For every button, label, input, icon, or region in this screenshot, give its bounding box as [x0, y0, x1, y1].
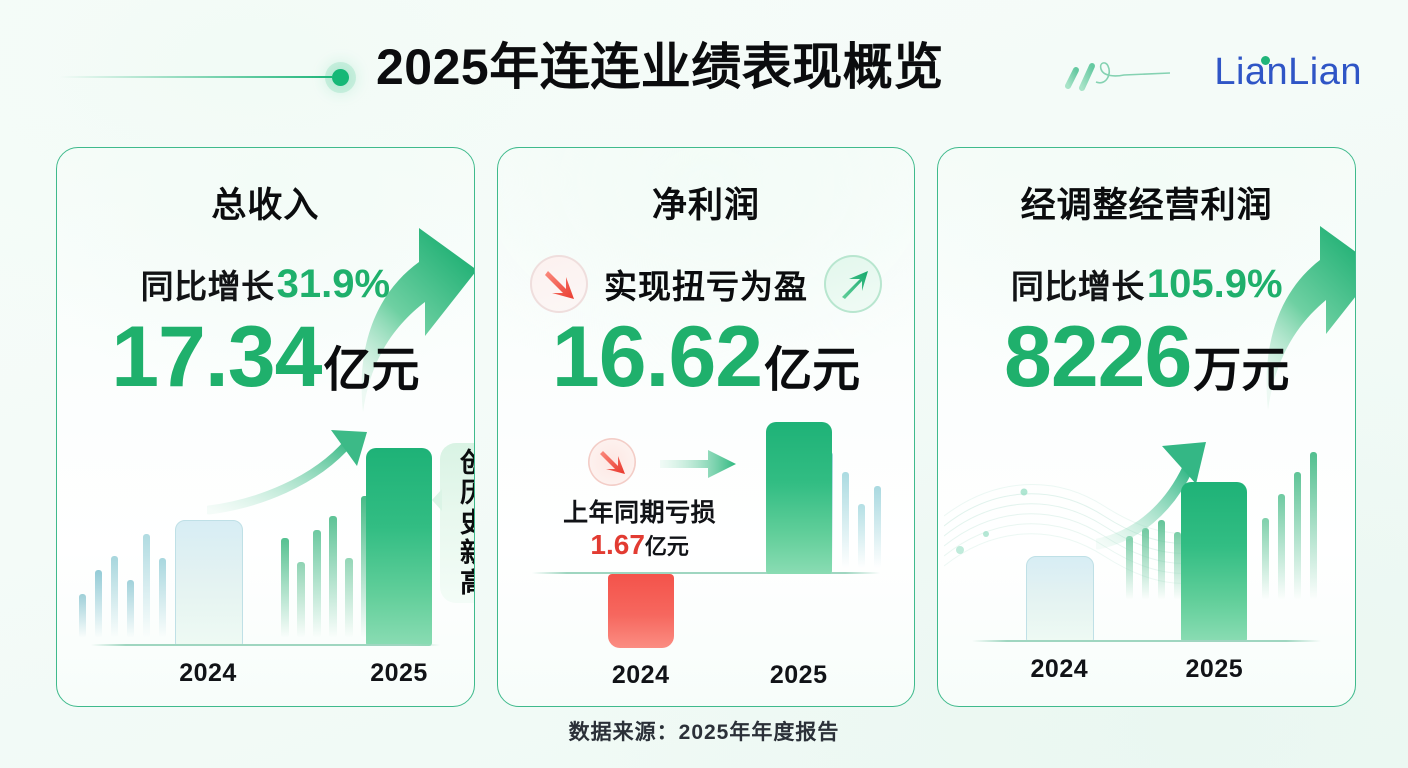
card-title: 经调整经营利润: [938, 184, 1355, 228]
bar-chart-total-revenue: 创历史新高 2024 2025: [57, 416, 474, 706]
loss-arrow-circle-icon: [588, 438, 636, 486]
card-title: 总收入: [57, 184, 474, 228]
growth-value: 31.9%: [277, 262, 390, 307]
x-tick-2024: 2024: [591, 661, 691, 690]
metric-card-adjusted-operating-profit[interactable]: 经调整经营利润 同比增长 105.9% 8226 万元: [937, 147, 1356, 707]
decor-mini-bar: [345, 558, 353, 638]
x-tick-2025: 2025: [349, 659, 449, 688]
decor-mini-bar: [1262, 518, 1269, 600]
decor-mini-bar: [297, 562, 305, 638]
value-number: 17.34: [111, 314, 321, 400]
squiggle-flourish-icon: [1062, 52, 1182, 100]
value-row: 8226 万元: [938, 314, 1355, 406]
cards-row: 总收入 同比增长 31.9% 17.34 亿元: [56, 147, 1356, 707]
header: 2025年连连业绩表现概览 LianLian: [0, 0, 1408, 140]
loss-note-label: 上年同期亏损: [540, 498, 740, 528]
x-tick-2025: 2025: [749, 661, 849, 690]
decor-mini-bar: [1310, 452, 1317, 600]
badge-pointer-icon: [432, 489, 442, 511]
value-number: 8226: [1004, 314, 1191, 400]
bar-2025: [766, 422, 832, 574]
brand-logo-text: LianLian: [1214, 51, 1362, 93]
loss-note-value-row: 1.67亿元: [540, 528, 740, 564]
bar-2024: [175, 520, 243, 646]
bar-chart-net-profit: 上年同期亏损 1.67亿元 2024 2025: [498, 416, 915, 706]
card-title: 净利润: [498, 184, 915, 228]
decor-mini-bar: [1294, 472, 1301, 600]
decor-mini-bar: [858, 504, 865, 568]
bar-2025: [366, 448, 432, 646]
decor-mini-bar: [159, 558, 166, 638]
x-axis-line: [91, 644, 440, 646]
growth-label: 同比增长: [141, 260, 275, 308]
bar-2024: [1026, 556, 1094, 642]
green-up-arrow-circle-icon: [824, 255, 882, 313]
value-unit: 亿元: [323, 345, 419, 397]
red-down-arrow-circle-icon: [530, 255, 588, 313]
x-tick-2025: 2025: [1164, 655, 1264, 684]
x-tick-2024: 2024: [158, 659, 258, 688]
loss-note-value: 1.67: [590, 529, 645, 560]
decor-mini-bar: [313, 530, 321, 638]
decor-mini-bar: [281, 538, 289, 638]
value-row: 17.34 亿元: [57, 314, 474, 406]
bar-2025: [1181, 482, 1247, 642]
brand-logo: LianLian: [1214, 50, 1362, 94]
decor-mini-bar: [143, 534, 150, 638]
x-axis-line: [972, 640, 1321, 642]
decor-mini-bar: [111, 556, 118, 638]
decor-mini-bar: [1278, 494, 1285, 600]
bar-chart-adjusted-operating-profit: 2024 2025: [938, 416, 1355, 706]
accent-dot-icon: [332, 69, 349, 86]
metric-card-total-revenue[interactable]: 总收入 同比增长 31.9% 17.34 亿元: [56, 147, 475, 707]
turnaround-row: 实现扭亏为盈: [498, 252, 915, 316]
brand-dot-icon: [1261, 56, 1270, 65]
decor-mini-bar: [127, 580, 134, 638]
badge-label: 创历史新高: [456, 448, 475, 598]
record-high-badge: 创历史新高: [440, 443, 475, 603]
decor-mini-bar: [329, 516, 337, 638]
infographic-canvas: 2025年连连业绩表现概览 LianLian 总收入 同比增长 31.9%: [0, 0, 1408, 768]
bar-2024-negative: [608, 574, 674, 648]
page-title: 2025年连连业绩表现概览: [376, 36, 1036, 98]
metric-card-net-profit[interactable]: 净利润 实现扭亏为盈: [497, 147, 916, 707]
decor-mini-bar: [95, 570, 102, 638]
growth-label: 同比增长: [1011, 260, 1145, 308]
value-number: 16.62: [552, 314, 762, 400]
decor-mini-bar: [79, 594, 86, 638]
growth-row: 同比增长 105.9%: [938, 256, 1355, 312]
value-unit: 亿元: [764, 345, 860, 397]
loss-note-unit: 亿元: [645, 534, 689, 559]
value-unit: 万元: [1193, 345, 1289, 397]
source-note: 数据来源：2025年年度报告: [0, 716, 1408, 746]
prior-year-loss-note: 上年同期亏损 1.67亿元: [540, 498, 740, 564]
green-right-arrow-icon: [658, 446, 738, 482]
turnaround-label: 实现扭亏为盈: [604, 260, 808, 308]
accent-line-icon: [60, 76, 332, 78]
x-tick-2024: 2024: [1009, 655, 1109, 684]
growth-row: 同比增长 31.9%: [57, 256, 474, 312]
growth-value: 105.9%: [1147, 262, 1283, 307]
decor-mini-bar: [842, 472, 849, 568]
decor-mini-bar: [874, 486, 881, 568]
value-row: 16.62 亿元: [498, 314, 915, 406]
